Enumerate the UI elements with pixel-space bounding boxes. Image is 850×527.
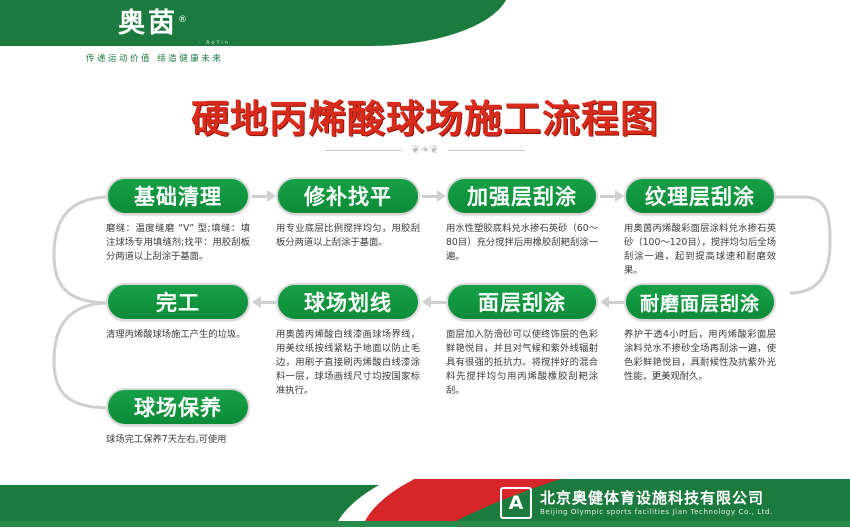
arrow-bar: [252, 195, 267, 198]
company-logo-icon: A: [500, 487, 532, 519]
footer-company-brand: A 北京奥健体育设施科技有限公司 Beijing Olympic sports …: [500, 487, 773, 519]
brand-tagline: 传递运动价值 缔造健康未来: [86, 52, 316, 64]
step-4-description: 用奥茵丙烯酸彩面层涂料兑水掺石英砂（100～120目），搅拌均匀后全场刮涂一遍，…: [624, 222, 776, 278]
step-7-pill[interactable]: 球场划线: [276, 283, 420, 321]
step-5-description: 养护干透4小时后，用丙烯酸彩面层涂料兑水不掺砂全场再刮涂一遍，使色彩鲜艳悦目，具…: [624, 328, 776, 384]
arrow-bar: [261, 301, 276, 304]
step-8-description: 清理丙烯酸球场施工产生的垃圾。: [106, 328, 250, 342]
step-6[interactable]: 面层刮涂 面层加入防滑砂可以使终饰层的色彩鲜艳悦目，并且对气候和紫外线辐射具有很…: [446, 283, 598, 398]
arrow-step7-to-step8: [252, 298, 276, 306]
footer-banner: A 北京奥健体育设施科技有限公司 Beijing Olympic sports …: [0, 479, 850, 527]
step-6-description: 面层加入防滑砂可以使终饰层的色彩鲜艳悦目，并且对气候和紫外线辐射具有很强的抵抗力…: [446, 328, 598, 398]
step-7[interactable]: 球场划线 用奥茵丙烯酸白线漆画球场界线，用美纹纸按线紧粘于地面以防止毛边，用刷子…: [276, 283, 420, 398]
page-title: 硬地丙烯酸球场施工流程图: [0, 88, 850, 143]
step-6-pill[interactable]: 面层刮涂: [446, 283, 598, 321]
arrow-bar: [609, 301, 624, 304]
poster-canvas: 奥茵® · AoYin · 传递运动价值 缔造健康未来 硬地丙烯酸球场施工流程图…: [0, 0, 850, 527]
step-1-description: 磨缝：温度缝磨 “V” 型;填缝：填注球场专用填缝剂;找平：用胶刮板分两道以上刮…: [106, 222, 250, 264]
process-flow-diagram: 基础清理 磨缝：温度缝磨 “V” 型;填缝：填注球场专用填缝剂;找平：用胶刮板分…: [0, 165, 850, 455]
arrow-head-right-icon: [267, 190, 276, 202]
company-name-en: Beijing Olympic sports facilities Jian T…: [540, 507, 773, 517]
arrow-bar: [422, 195, 437, 198]
arrow-step3-to-step4: [600, 192, 624, 200]
step-3[interactable]: 加强层刮涂 用水性塑胶底料兑水掺石英砂（60～80目）充分搅拌后用橡胶刮耙刮涂一…: [446, 177, 598, 264]
arrow-head-right-icon: [437, 190, 446, 202]
step-9-pill[interactable]: 球场保养: [106, 388, 250, 426]
divider-line-left: [325, 150, 402, 151]
step-3-pill[interactable]: 加强层刮涂: [446, 177, 598, 215]
logo-name: 奥茵: [118, 8, 178, 39]
step-7-description: 用奥茵丙烯酸白线漆画球场界线，用美纹纸按线紧粘于地面以防止毛边，用刷子直接刷丙烯…: [276, 328, 420, 398]
step-2-label: 修补找平: [304, 181, 392, 211]
registered-trademark-icon: ®: [178, 15, 190, 25]
arrow-bar: [431, 301, 446, 304]
divider-line-right: [448, 150, 525, 151]
arrow-head-left-icon: [600, 296, 609, 308]
divider-ornament-icon: ❦❧❦: [402, 145, 448, 155]
arrow-step1-to-step2: [252, 192, 276, 200]
step-6-label: 面层刮涂: [478, 287, 566, 317]
step-1-pill[interactable]: 基础清理: [106, 177, 250, 215]
arrow-step2-to-step3: [422, 192, 446, 200]
step-7-label: 球场划线: [304, 287, 392, 317]
step-9[interactable]: 球场保养 球场完工保养7天左右,可使用: [106, 388, 250, 447]
company-names: 北京奥健体育设施科技有限公司 Beijing Olympic sports fa…: [540, 490, 773, 517]
logo-pinyin: · AoYin ·: [118, 40, 318, 46]
logo-wordmark: 奥茵®: [118, 4, 318, 40]
step-5-label: 耐磨面层刮涂: [640, 289, 760, 316]
step-2-pill[interactable]: 修补找平: [276, 177, 420, 215]
title-divider: ❦❧❦: [325, 142, 525, 158]
arrow-step6-to-step7: [422, 298, 446, 306]
step-5-pill[interactable]: 耐磨面层刮涂: [624, 283, 776, 321]
step-8-pill[interactable]: 完工: [106, 283, 250, 321]
step-8[interactable]: 完工 清理丙烯酸球场施工产生的垃圾。: [106, 283, 250, 342]
step-2-description: 用专业底层比例搅拌均匀，用胶刮板分两道以上刮涂于基面。: [276, 222, 420, 250]
step-8-label: 完工: [156, 287, 200, 317]
company-name-cn: 北京奥健体育设施科技有限公司: [540, 490, 773, 507]
step-1-label: 基础清理: [134, 181, 222, 211]
step-5[interactable]: 耐磨面层刮涂 养护干透4小时后，用丙烯酸彩面层涂料兑水不掺砂全场再刮涂一遍，使色…: [624, 283, 776, 384]
arrow-step5-to-step6: [600, 298, 624, 306]
step-4-label: 纹理层刮涂: [645, 181, 755, 211]
step-4-pill[interactable]: 纹理层刮涂: [624, 177, 776, 215]
step-1[interactable]: 基础清理 磨缝：温度缝磨 “V” 型;填缝：填注球场专用填缝剂;找平：用胶刮板分…: [106, 177, 250, 264]
step-2[interactable]: 修补找平 用专业底层比例搅拌均匀，用胶刮板分两道以上刮涂于基面。: [276, 177, 420, 250]
step-4[interactable]: 纹理层刮涂 用奥茵丙烯酸彩面层涂料兑水掺石英砂（100～120目），搅拌均匀后全…: [624, 177, 776, 278]
arrow-head-left-icon: [422, 296, 431, 308]
step-3-description: 用水性塑胶底料兑水掺石英砂（60～80目）充分搅拌后用橡胶刮耙刮涂一遍。: [446, 222, 598, 264]
brand-logo: 奥茵® · AoYin ·: [118, 4, 318, 46]
step-9-description: 球场完工保养7天左右,可使用: [106, 433, 250, 447]
arrow-head-right-icon: [615, 190, 624, 202]
step-9-label: 球场保养: [134, 392, 222, 422]
arrow-bar: [600, 195, 615, 198]
header-banner: 奥茵® · AoYin ·: [0, 0, 850, 46]
footer-baseline: [0, 521, 850, 527]
arrow-head-left-icon: [252, 296, 261, 308]
step-3-label: 加强层刮涂: [467, 181, 577, 211]
